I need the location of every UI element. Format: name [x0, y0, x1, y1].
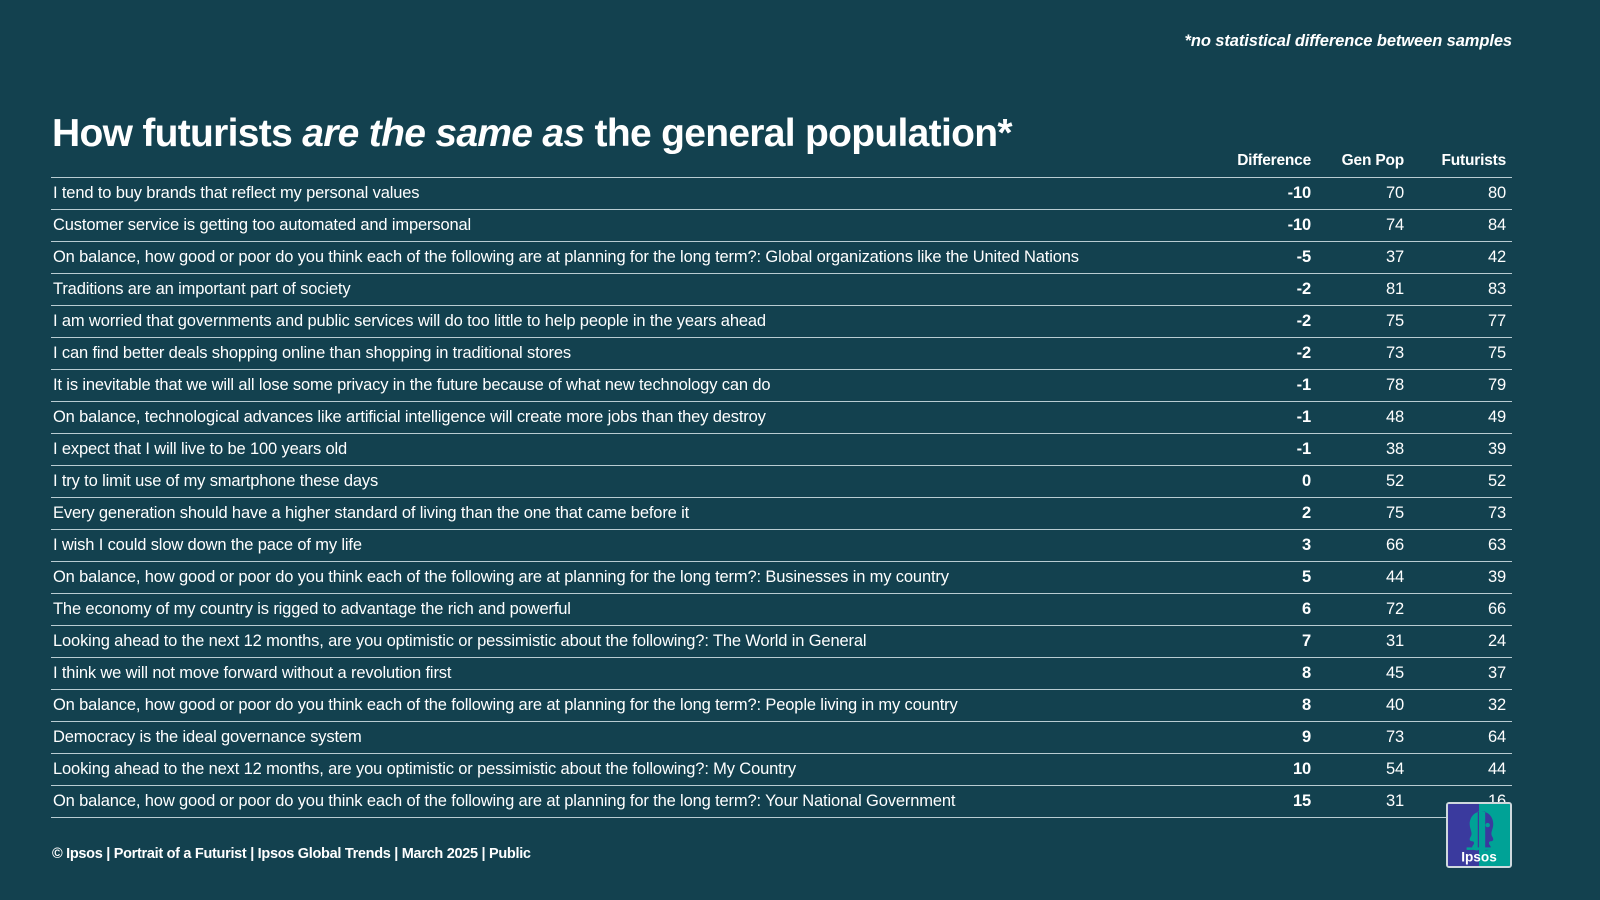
- cell-gen-pop: 31: [1320, 786, 1418, 818]
- cell-gen-pop: 48: [1320, 402, 1418, 434]
- cell-futurists: 39: [1418, 562, 1512, 594]
- cell-difference: 15: [1210, 786, 1320, 818]
- cell-futurists: 52: [1418, 466, 1512, 498]
- slide-root: *no statistical difference between sampl…: [0, 0, 1600, 900]
- cell-difference: 8: [1210, 658, 1320, 690]
- table-row: Customer service is getting too automate…: [51, 210, 1512, 242]
- cell-futurists: 75: [1418, 338, 1512, 370]
- cell-futurists: 73: [1418, 498, 1512, 530]
- cell-futurists: 32: [1418, 690, 1512, 722]
- cell-futurists: 79: [1418, 370, 1512, 402]
- cell-statement: Every generation should have a higher st…: [51, 498, 1210, 530]
- column-header-futurists: Futurists: [1418, 152, 1512, 178]
- cell-statement: I try to limit use of my smartphone thes…: [51, 466, 1210, 498]
- cell-statement: On balance, how good or poor do you thin…: [51, 786, 1210, 818]
- cell-statement: I can find better deals shopping online …: [51, 338, 1210, 370]
- cell-gen-pop: 75: [1320, 498, 1418, 530]
- table-row: On balance, how good or poor do you thin…: [51, 690, 1512, 722]
- cell-futurists: 39: [1418, 434, 1512, 466]
- table-row: I tend to buy brands that reflect my per…: [51, 178, 1512, 210]
- footer-credit: © Ipsos | Portrait of a Futurist | Ipsos…: [52, 846, 531, 862]
- cell-futurists: 37: [1418, 658, 1512, 690]
- cell-gen-pop: 54: [1320, 754, 1418, 786]
- svg-text:Ipsos: Ipsos: [1461, 850, 1497, 865]
- cell-statement: I expect that I will live to be 100 year…: [51, 434, 1210, 466]
- cell-statement: On balance, how good or poor do you thin…: [51, 690, 1210, 722]
- cell-statement: Democracy is the ideal governance system: [51, 722, 1210, 754]
- cell-difference: 2: [1210, 498, 1320, 530]
- cell-statement: Customer service is getting too automate…: [51, 210, 1210, 242]
- table-row: The economy of my country is rigged to a…: [51, 594, 1512, 626]
- cell-difference: 9: [1210, 722, 1320, 754]
- cell-gen-pop: 31: [1320, 626, 1418, 658]
- cell-futurists: 63: [1418, 530, 1512, 562]
- cell-gen-pop: 73: [1320, 338, 1418, 370]
- cell-futurists: 77: [1418, 306, 1512, 338]
- cell-gen-pop: 73: [1320, 722, 1418, 754]
- title-part-emphasis: are the same as: [302, 112, 584, 155]
- cell-futurists: 83: [1418, 274, 1512, 306]
- comparison-table: Difference Gen Pop Futurists I tend to b…: [51, 152, 1512, 818]
- cell-gen-pop: 81: [1320, 274, 1418, 306]
- cell-futurists: 42: [1418, 242, 1512, 274]
- table-row: Democracy is the ideal governance system…: [51, 722, 1512, 754]
- cell-gen-pop: 52: [1320, 466, 1418, 498]
- cell-statement: On balance, how good or poor do you thin…: [51, 562, 1210, 594]
- table-row: I expect that I will live to be 100 year…: [51, 434, 1512, 466]
- cell-gen-pop: 45: [1320, 658, 1418, 690]
- column-header-statement: [51, 152, 1210, 178]
- table-row: I am worried that governments and public…: [51, 306, 1512, 338]
- cell-gen-pop: 38: [1320, 434, 1418, 466]
- cell-difference: 8: [1210, 690, 1320, 722]
- cell-difference: -2: [1210, 306, 1320, 338]
- table-row: I think we will not move forward without…: [51, 658, 1512, 690]
- cell-statement: Looking ahead to the next 12 months, are…: [51, 754, 1210, 786]
- table-row: On balance, how good or poor do you thin…: [51, 562, 1512, 594]
- cell-statement: I think we will not move forward without…: [51, 658, 1210, 690]
- cell-gen-pop: 40: [1320, 690, 1418, 722]
- cell-gen-pop: 70: [1320, 178, 1418, 210]
- title-part-before: How futurists: [52, 112, 302, 155]
- cell-futurists: 49: [1418, 402, 1512, 434]
- table-row: Looking ahead to the next 12 months, are…: [51, 754, 1512, 786]
- table-row: Every generation should have a higher st…: [51, 498, 1512, 530]
- cell-futurists: 80: [1418, 178, 1512, 210]
- table-body: I tend to buy brands that reflect my per…: [51, 178, 1512, 818]
- title-part-after: the general population*: [584, 112, 1011, 155]
- cell-difference: -5: [1210, 242, 1320, 274]
- cell-statement: On balance, technological advances like …: [51, 402, 1210, 434]
- cell-statement: Looking ahead to the next 12 months, are…: [51, 626, 1210, 658]
- cell-difference: -10: [1210, 178, 1320, 210]
- table-row: Traditions are an important part of soci…: [51, 274, 1512, 306]
- cell-statement: I tend to buy brands that reflect my per…: [51, 178, 1210, 210]
- table-row: On balance, how good or poor do you thin…: [51, 786, 1512, 818]
- cell-gen-pop: 44: [1320, 562, 1418, 594]
- table-row: I wish I could slow down the pace of my …: [51, 530, 1512, 562]
- ipsos-logo-icon: Ipsos: [1448, 804, 1510, 866]
- cell-difference: 7: [1210, 626, 1320, 658]
- table-row: On balance, how good or poor do you thin…: [51, 242, 1512, 274]
- table-header: Difference Gen Pop Futurists: [51, 152, 1512, 178]
- cell-difference: -10: [1210, 210, 1320, 242]
- cell-gen-pop: 78: [1320, 370, 1418, 402]
- ipsos-logo: Ipsos: [1446, 802, 1512, 868]
- column-header-difference: Difference: [1210, 152, 1320, 178]
- cell-difference: 6: [1210, 594, 1320, 626]
- cell-difference: 5: [1210, 562, 1320, 594]
- table-row: It is inevitable that we will all lose s…: [51, 370, 1512, 402]
- cell-futurists: 44: [1418, 754, 1512, 786]
- cell-statement: I am worried that governments and public…: [51, 306, 1210, 338]
- cell-statement: The economy of my country is rigged to a…: [51, 594, 1210, 626]
- cell-futurists: 84: [1418, 210, 1512, 242]
- cell-difference: 10: [1210, 754, 1320, 786]
- cell-gen-pop: 74: [1320, 210, 1418, 242]
- cell-gen-pop: 37: [1320, 242, 1418, 274]
- cell-statement: It is inevitable that we will all lose s…: [51, 370, 1210, 402]
- cell-gen-pop: 75: [1320, 306, 1418, 338]
- cell-gen-pop: 72: [1320, 594, 1418, 626]
- table-header-row: Difference Gen Pop Futurists: [51, 152, 1512, 178]
- table-row: Looking ahead to the next 12 months, are…: [51, 626, 1512, 658]
- cell-statement: On balance, how good or poor do you thin…: [51, 242, 1210, 274]
- cell-difference: -1: [1210, 402, 1320, 434]
- cell-gen-pop: 66: [1320, 530, 1418, 562]
- cell-difference: -2: [1210, 274, 1320, 306]
- cell-futurists: 24: [1418, 626, 1512, 658]
- footnote-no-statistical-difference: *no statistical difference between sampl…: [1185, 32, 1512, 51]
- cell-statement: Traditions are an important part of soci…: [51, 274, 1210, 306]
- page-title: How futurists are the same as the genera…: [52, 112, 1012, 157]
- cell-difference: -2: [1210, 338, 1320, 370]
- cell-futurists: 66: [1418, 594, 1512, 626]
- table-row: I can find better deals shopping online …: [51, 338, 1512, 370]
- cell-futurists: 64: [1418, 722, 1512, 754]
- cell-statement: I wish I could slow down the pace of my …: [51, 530, 1210, 562]
- cell-difference: 0: [1210, 466, 1320, 498]
- column-header-gen-pop: Gen Pop: [1320, 152, 1418, 178]
- cell-difference: 3: [1210, 530, 1320, 562]
- table-row: I try to limit use of my smartphone thes…: [51, 466, 1512, 498]
- cell-difference: -1: [1210, 434, 1320, 466]
- comparison-table-container: Difference Gen Pop Futurists I tend to b…: [51, 152, 1512, 818]
- table-row: On balance, technological advances like …: [51, 402, 1512, 434]
- cell-difference: -1: [1210, 370, 1320, 402]
